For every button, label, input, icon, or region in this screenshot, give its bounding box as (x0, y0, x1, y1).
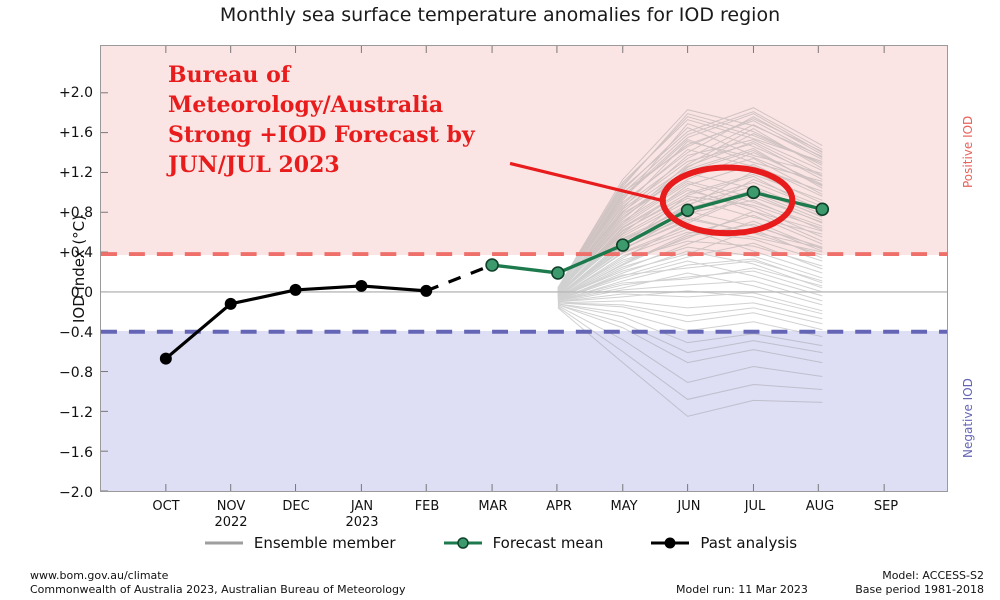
x-tick-label-jun: JUN (677, 499, 700, 515)
legend-label: Ensemble member (254, 534, 396, 552)
footer-website[interactable]: www.bom.gov.au/climate (30, 569, 405, 583)
x-tick-label-sep: SEP (874, 499, 898, 515)
x-tick-label-nov: NOV 2022 (214, 499, 247, 531)
footer-left: www.bom.gov.au/climate Commonwealth of A… (30, 569, 405, 597)
x-tick-label-oct: OCT (152, 499, 179, 515)
y-tick-label: −1.2 (59, 405, 93, 421)
x-tick-label-mar: MAR (478, 499, 507, 515)
callout-line-2: Meteorology/Australia (168, 90, 548, 120)
x-tick-label-feb: FEB (415, 499, 440, 515)
y-tick-label: −0.8 (59, 365, 93, 381)
callout-line-4: JUN/JUL 2023 (168, 150, 548, 180)
x-tick-year: 2022 (214, 515, 247, 531)
x-tick-month: DEC (282, 499, 309, 514)
legend-label: Past analysis (700, 534, 797, 552)
x-tick-month: NOV (217, 499, 246, 514)
legend-swatch-line-icon (203, 536, 245, 550)
ensemble-members (558, 108, 822, 417)
x-tick-label-aug: AUG (806, 499, 834, 515)
x-tick-month: SEP (874, 499, 898, 514)
legend-swatch-circle-open-icon (442, 536, 484, 550)
legend-swatch-circle-filled-icon (649, 536, 691, 550)
x-tick-month: APR (546, 499, 572, 514)
positive-iod-label: Positive IOD (961, 116, 975, 188)
legend-item-ensemble-member: Ensemble member (203, 534, 396, 552)
y-tick-label: −1.6 (59, 445, 93, 461)
x-tick-label-jan: JAN 2023 (345, 499, 378, 531)
page-title: Monthly sea surface temperature anomalie… (0, 4, 1000, 26)
y-axis-label: IOD index (°C) (70, 214, 88, 322)
negative-iod-label: Negative IOD (961, 378, 975, 458)
y-tick-label: −0.4 (59, 325, 93, 341)
y-tick-label: +0.4 (59, 245, 93, 261)
footer-base-period: Base period 1981-2018 (855, 583, 984, 597)
y-tick-label: 0.0 (71, 285, 93, 301)
x-tick-month: MAR (478, 499, 507, 514)
bom-forecast-callout: Bureau of Meteorology/Australia Strong +… (168, 60, 548, 180)
y-tick-label: −2.0 (59, 485, 93, 501)
x-tick-label-jul: JUL (745, 499, 766, 515)
y-tick-label: +0.8 (59, 205, 93, 221)
x-tick-label-apr: APR (546, 499, 572, 515)
x-tick-label-dec: DEC (282, 499, 309, 515)
chart-page: Monthly sea surface temperature anomalie… (0, 0, 1000, 600)
x-tick-month: JAN (351, 499, 373, 514)
x-tick-month: OCT (152, 499, 179, 514)
legend-item-forecast-mean: Forecast mean (442, 534, 604, 552)
callout-line-3: Strong +IOD Forecast by (168, 120, 548, 150)
chart-legend: Ensemble member Forecast mean Past analy… (0, 534, 1000, 552)
x-tick-label-may: MAY (610, 499, 637, 515)
callout-line-1: Bureau of (168, 60, 548, 90)
y-tick-label: +1.2 (59, 165, 93, 181)
past-analysis-series (160, 265, 492, 365)
x-tick-month: FEB (415, 499, 440, 514)
x-tick-month: JUN (677, 499, 700, 514)
legend-item-past-analysis: Past analysis (649, 534, 797, 552)
footer-right: Model: ACCESS-S2 Base period 1981-2018 (855, 569, 984, 597)
footer-copyright: Commonwealth of Australia 2023, Australi… (30, 583, 405, 597)
past-analysis-markers (160, 280, 432, 365)
x-tick-year: 2023 (345, 515, 378, 531)
x-tick-month: JUL (745, 499, 766, 514)
legend-label: Forecast mean (493, 534, 604, 552)
chart-footer: www.bom.gov.au/climate Commonwealth of A… (0, 569, 1000, 600)
x-tick-month: MAY (610, 499, 637, 514)
footer-model: Model: ACCESS-S2 (855, 569, 984, 583)
y-tick-label: +1.6 (59, 125, 93, 141)
x-tick-month: AUG (806, 499, 834, 514)
footer-model-run: Model run: 11 Mar 2023 (676, 583, 808, 597)
y-tick-label: +2.0 (59, 85, 93, 101)
